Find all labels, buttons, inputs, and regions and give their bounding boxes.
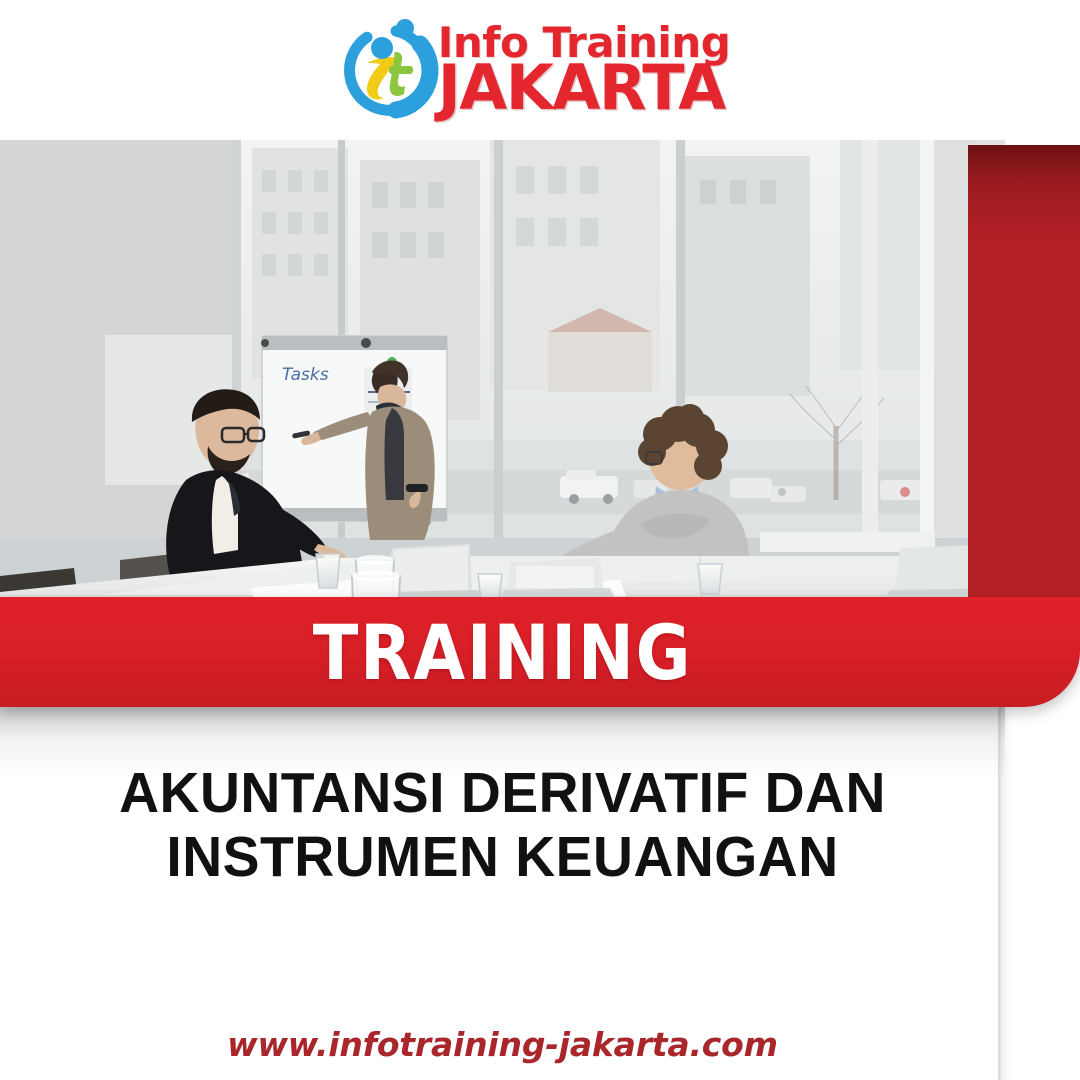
banner-label: TRAINING bbox=[60, 597, 944, 707]
page-title-line-2: INSTRUMEN KEUANGAN bbox=[15, 826, 990, 890]
page-title-line-1: AKUNTANSI DERIVATIF DAN bbox=[15, 762, 990, 826]
brand-wordmark: Info Training JAKARTA bbox=[438, 24, 731, 116]
website-url[interactable]: www.infotraining-jakarta.com bbox=[0, 1025, 1005, 1064]
hero-photo: Tasks bbox=[0, 140, 1005, 600]
brand-name-line-2: JAKARTA bbox=[438, 59, 725, 116]
header-logo-bar: Info Training JAKARTA bbox=[0, 0, 1080, 140]
right-accent-bar bbox=[968, 145, 1080, 600]
svg-text:Tasks: Tasks bbox=[282, 365, 329, 385]
it-monogram-circle-logo-icon bbox=[334, 14, 446, 126]
page-title: AKUNTANSI DERIVATIF DAN INSTRUMEN KEUANG… bbox=[15, 762, 990, 890]
poster-canvas: Info Training JAKARTA bbox=[0, 0, 1080, 1080]
training-banner: TRAINING bbox=[0, 597, 1080, 707]
brand-logo-lockup[interactable]: Info Training JAKARTA bbox=[334, 14, 731, 126]
